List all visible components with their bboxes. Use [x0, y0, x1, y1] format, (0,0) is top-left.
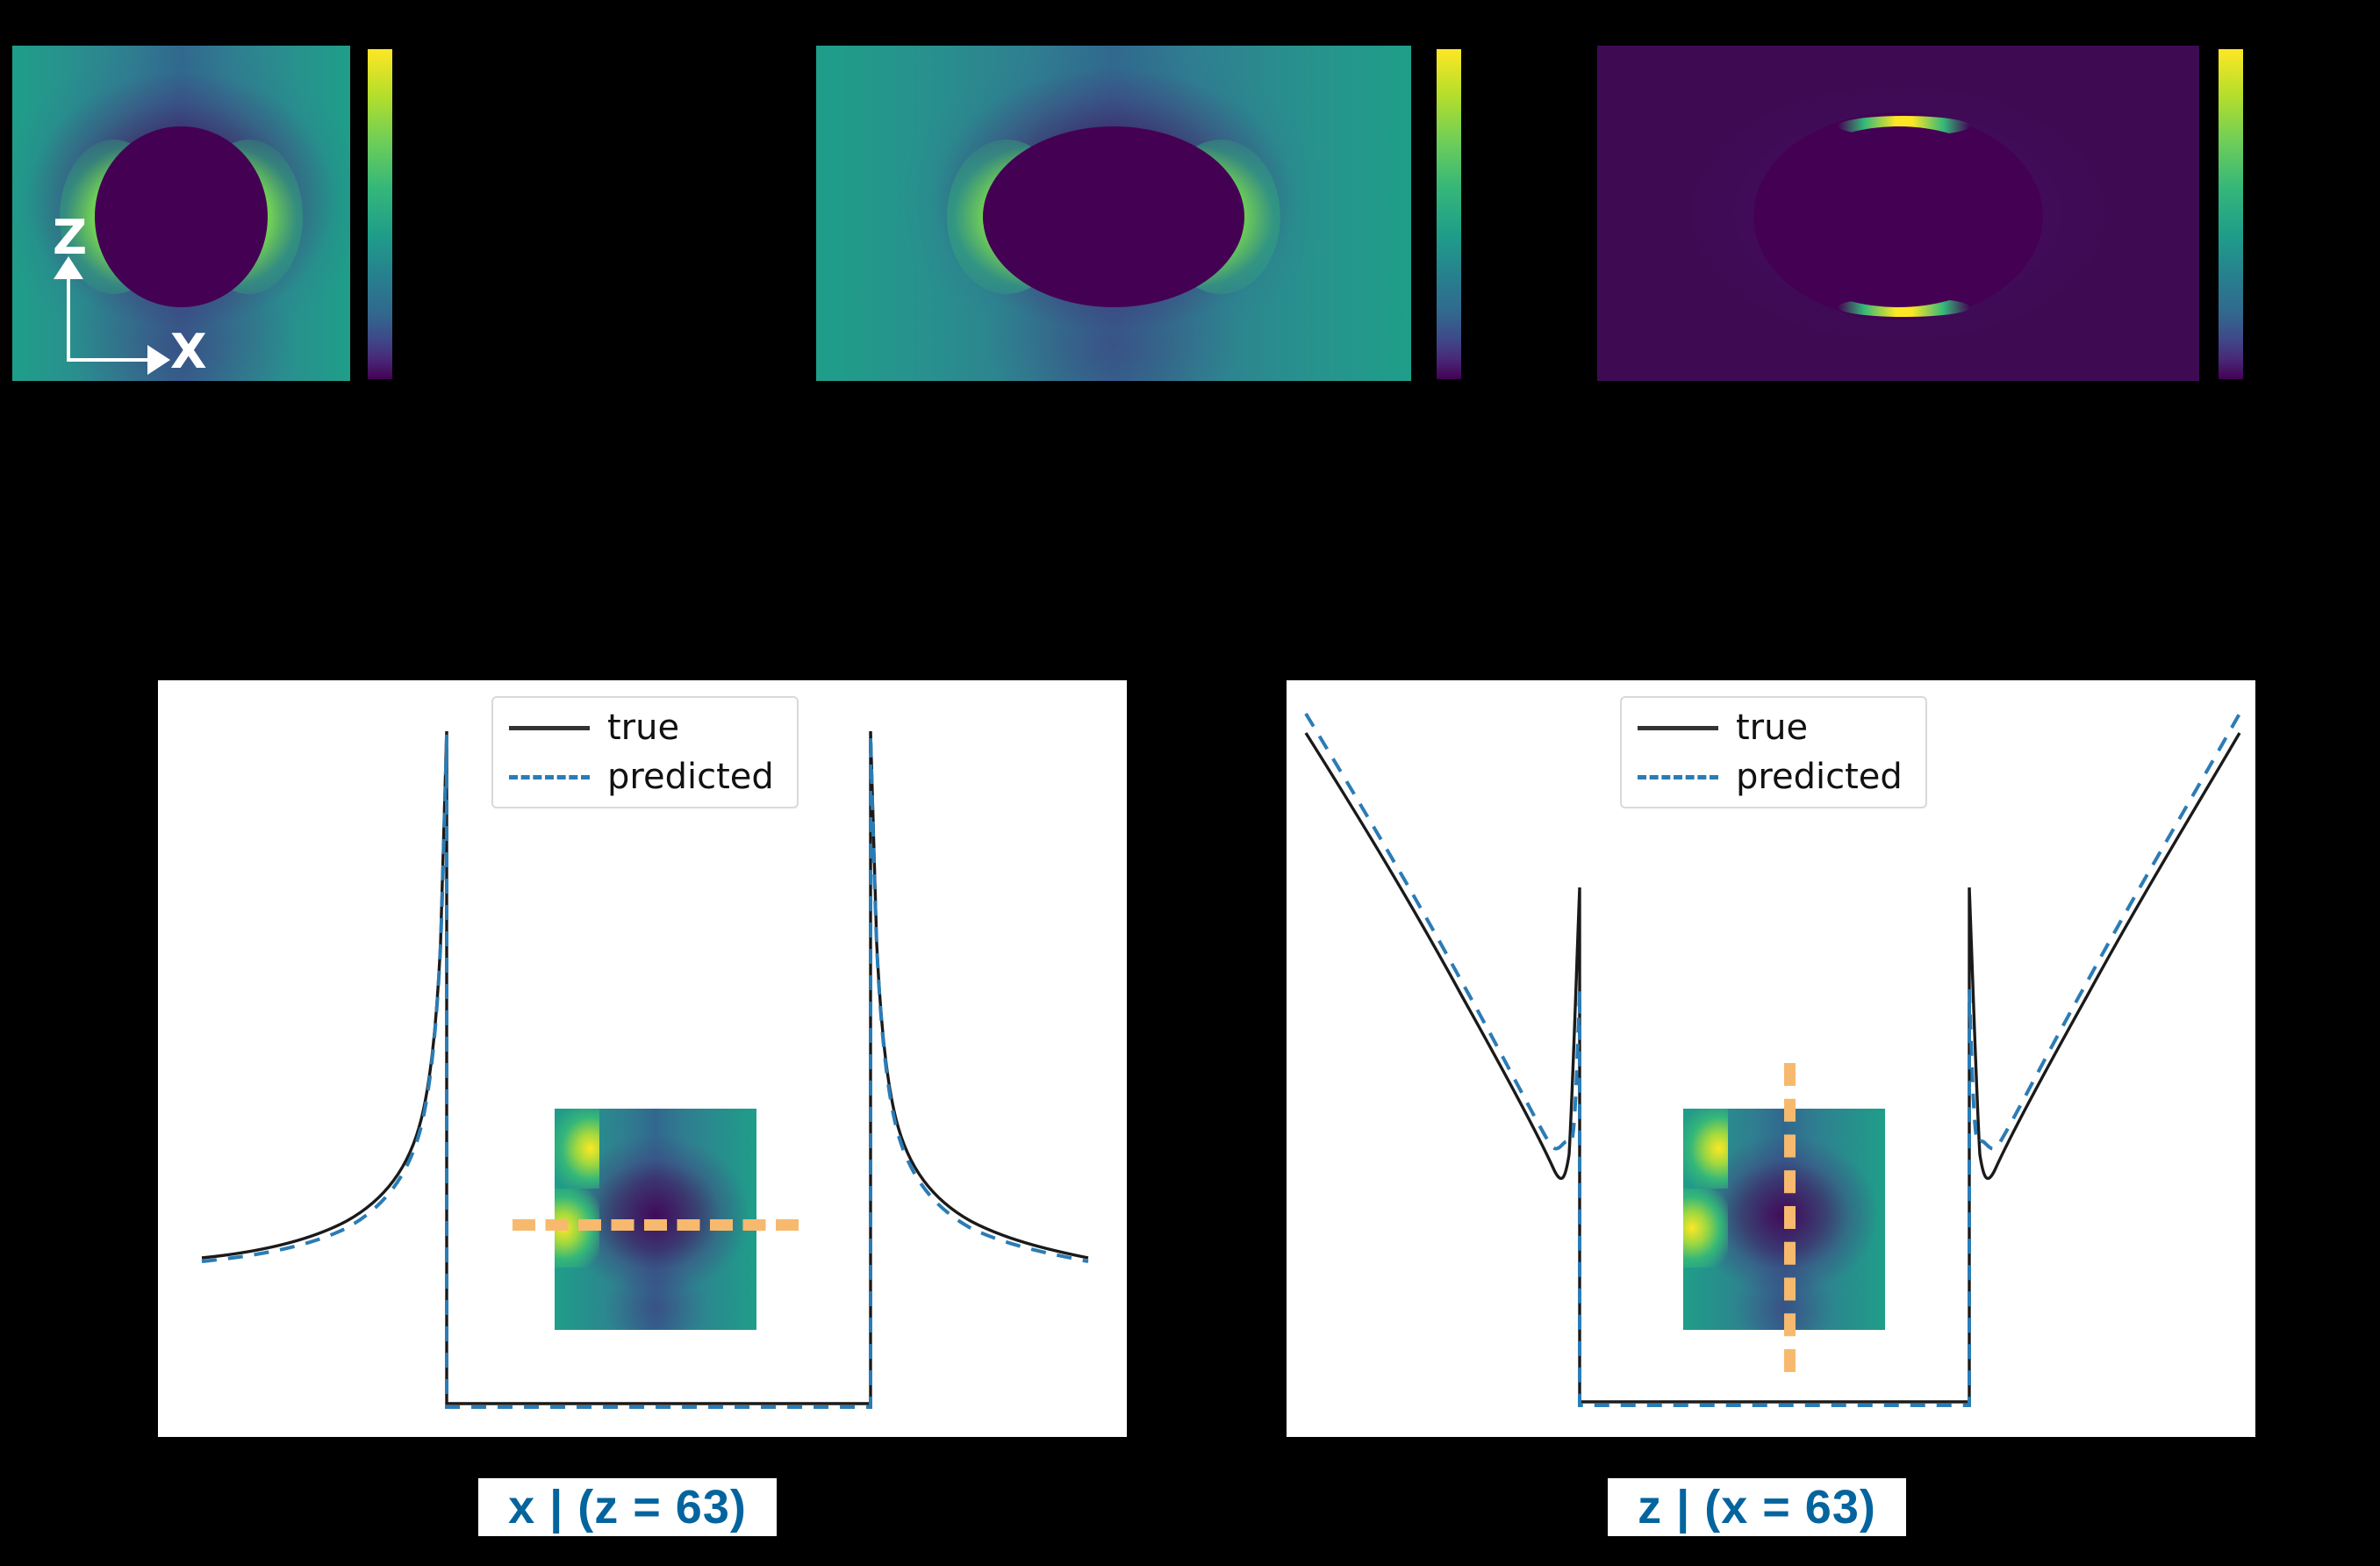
- true-line-swatch: [509, 726, 590, 730]
- x-axis-line: [67, 358, 151, 362]
- orientation-axes: Z X: [32, 237, 181, 369]
- true-line-swatch: [1638, 726, 1718, 730]
- legend-label-true: true: [1736, 710, 1808, 745]
- legend-label-true: true: [607, 710, 679, 745]
- line-plot-z-cut: true predicted: [1287, 680, 2255, 1437]
- legend-label-predicted: predicted: [607, 759, 774, 794]
- legend-row-predicted: predicted: [1638, 759, 1903, 794]
- cut-line-vertical: [1784, 1063, 1796, 1372]
- caption-tag-x-cut: x | (z = 63): [478, 1478, 777, 1536]
- scatterer-body: [1766, 126, 2031, 307]
- predicted-line-swatch: [1638, 775, 1718, 779]
- predicted-line-swatch: [509, 775, 590, 779]
- inset-hotspot-right: [1683, 1189, 1728, 1268]
- line-plot-x-cut: true predicted: [158, 680, 1127, 1437]
- caption-text-x-cut: x | (z = 63): [508, 1480, 747, 1534]
- inset-scatterer-body: [1683, 1268, 1780, 1330]
- legend-row-true: true: [1638, 710, 1903, 745]
- colorbar-predicted: [1437, 49, 1461, 379]
- field-panel-error: [1597, 46, 2199, 381]
- x-axis-arrowhead: [147, 345, 170, 375]
- legend-label-predicted: predicted: [1736, 759, 1903, 794]
- colorbar-error: [2219, 49, 2243, 379]
- inset-scatterer-body: [555, 1268, 651, 1330]
- legend-row-true: true: [509, 710, 774, 745]
- legend-z-cut: true predicted: [1620, 696, 1927, 808]
- inset-map-x-cut: [555, 1109, 756, 1330]
- caption-text-z-cut: z | (x = 63): [1638, 1480, 1876, 1534]
- cut-line-horizontal: [513, 1219, 799, 1231]
- inset-hotspot-left: [555, 1109, 599, 1189]
- x-axis-label: X: [170, 328, 207, 376]
- legend-x-cut: true predicted: [491, 696, 799, 808]
- caption-tag-z-cut: z | (x = 63): [1608, 1478, 1906, 1536]
- legend-row-predicted: predicted: [509, 759, 774, 794]
- inset-map-z-cut: [1683, 1109, 1885, 1330]
- scatterer-body: [983, 126, 1244, 307]
- inset-hotspot-left: [1683, 1109, 1728, 1189]
- z-axis-label: Z: [53, 214, 88, 262]
- z-axis-line: [67, 277, 70, 362]
- field-panel-predicted: [816, 46, 1411, 381]
- colorbar-true: [368, 49, 392, 379]
